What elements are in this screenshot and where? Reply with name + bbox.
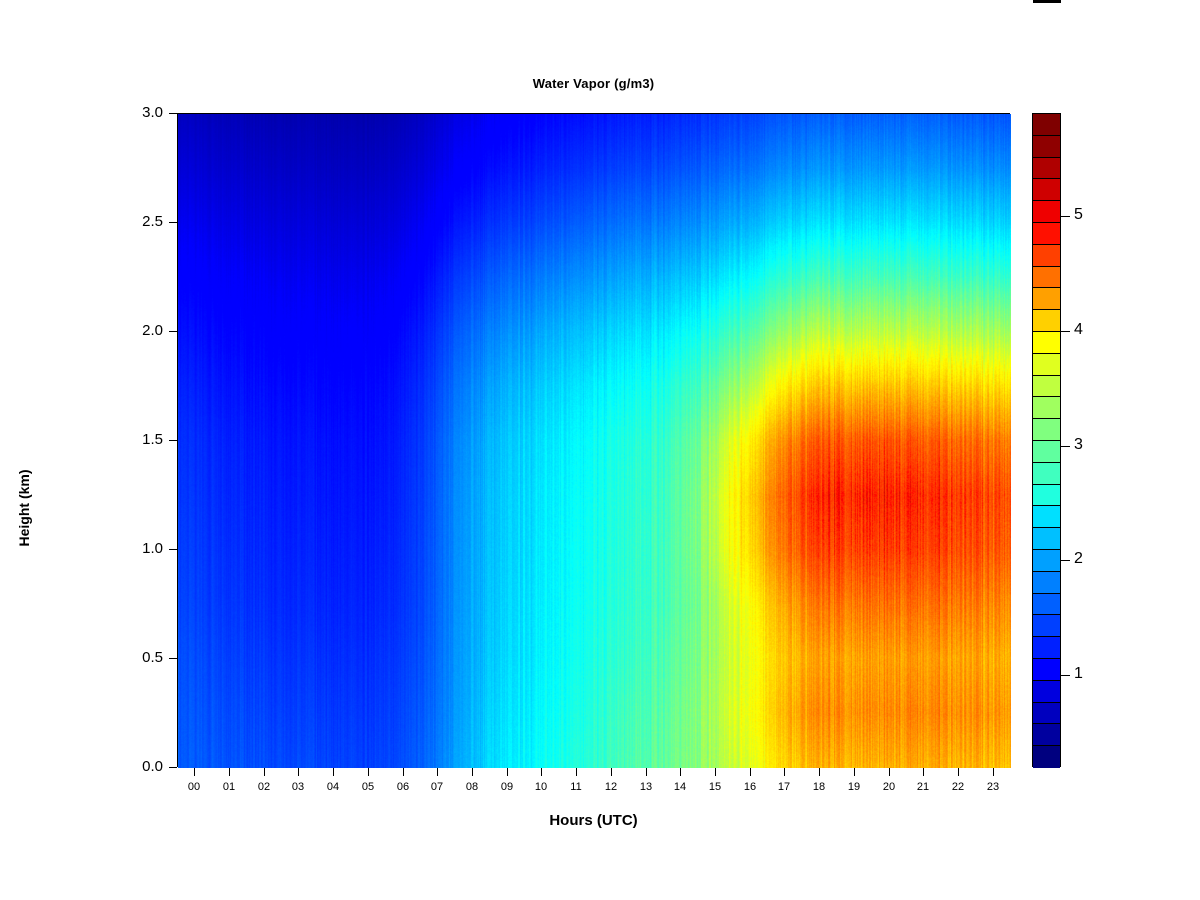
x-tick-label: 00 <box>174 781 214 793</box>
x-tick-mark <box>819 768 820 776</box>
x-tick-mark <box>750 768 751 776</box>
x-tick-mark <box>403 768 404 776</box>
colorbar-band <box>1033 615 1060 637</box>
colorbar-band <box>1033 223 1060 245</box>
colorbar-tick-label: 5 <box>1074 207 1104 223</box>
x-tick-label: 15 <box>695 781 735 793</box>
colorbar-band <box>1033 485 1060 507</box>
x-tick-mark <box>541 768 542 776</box>
y-axis-label: Height (km) <box>16 448 32 568</box>
heatmap-panel[interactable] <box>177 113 1010 767</box>
colorbar-tick-label: 1 <box>1074 666 1104 682</box>
y-tick-mark <box>169 222 177 223</box>
x-tick-label: 17 <box>764 781 804 793</box>
x-tick-mark <box>194 768 195 776</box>
x-axis-label: Hours (UTC) <box>177 812 1010 829</box>
colorbar-tick-mark <box>1061 216 1070 217</box>
x-tick-mark <box>611 768 612 776</box>
x-tick-mark <box>958 768 959 776</box>
x-tick-mark <box>507 768 508 776</box>
x-tick-mark <box>646 768 647 776</box>
figure-canvas: Water Vapor (g/m3) 0.00.51.01.52.02.53.0… <box>0 0 1200 900</box>
colorbar-band <box>1033 594 1060 616</box>
y-tick-label: 1.5 <box>103 432 163 447</box>
colorbar-band <box>1033 506 1060 528</box>
y-tick-label: 3.0 <box>103 105 163 120</box>
colorbar-band <box>1033 572 1060 594</box>
colorbar-band <box>1033 158 1060 180</box>
x-tick-mark <box>715 768 716 776</box>
x-tick-mark <box>264 768 265 776</box>
x-tick-label: 07 <box>417 781 457 793</box>
colorbar-band <box>1033 681 1060 703</box>
x-tick-label: 14 <box>660 781 700 793</box>
colorbar-band <box>1033 310 1060 332</box>
x-tick-label: 04 <box>313 781 353 793</box>
x-tick-mark <box>889 768 890 776</box>
x-tick-label: 18 <box>799 781 839 793</box>
y-tick-mark <box>169 767 177 768</box>
y-tick-label: 0.5 <box>103 650 163 665</box>
colorbar-band <box>1033 637 1060 659</box>
x-tick-mark <box>333 768 334 776</box>
colorbar-band <box>1033 463 1060 485</box>
heatmap-image[interactable] <box>178 114 1011 768</box>
y-tick-label: 1.0 <box>103 541 163 556</box>
x-tick-label: 05 <box>348 781 388 793</box>
colorbar-tick-mark <box>1061 560 1070 561</box>
colorbar-band <box>1033 136 1060 158</box>
x-tick-mark <box>680 768 681 776</box>
stray-rule-artifact <box>1033 0 1061 3</box>
x-tick-mark <box>298 768 299 776</box>
colorbar-tick-mark <box>1061 675 1070 676</box>
y-tick-mark <box>169 549 177 550</box>
x-tick-mark <box>229 768 230 776</box>
colorbar-gradient <box>1032 113 1061 767</box>
colorbar-band <box>1033 746 1060 768</box>
x-tick-mark <box>923 768 924 776</box>
colorbar-tick-mark <box>1061 331 1070 332</box>
x-tick-mark <box>437 768 438 776</box>
x-tick-label: 19 <box>834 781 874 793</box>
page-title: Water Vapor (g/m3) <box>177 76 1010 91</box>
colorbar-band <box>1033 441 1060 463</box>
x-tick-mark <box>784 768 785 776</box>
x-tick-mark <box>368 768 369 776</box>
y-tick-mark <box>169 331 177 332</box>
colorbar-band <box>1033 288 1060 310</box>
colorbar-band <box>1033 397 1060 419</box>
colorbar-tick-label: 3 <box>1074 437 1104 453</box>
y-tick-label: 2.5 <box>103 214 163 229</box>
colorbar-band <box>1033 354 1060 376</box>
x-tick-label: 22 <box>938 781 978 793</box>
x-tick-label: 03 <box>278 781 318 793</box>
colorbar-band <box>1033 419 1060 441</box>
x-tick-mark <box>993 768 994 776</box>
colorbar-band <box>1033 550 1060 572</box>
colorbar-band <box>1033 179 1060 201</box>
x-tick-mark <box>576 768 577 776</box>
colorbar-band <box>1033 245 1060 267</box>
y-tick-mark <box>169 658 177 659</box>
y-tick-label: 2.0 <box>103 323 163 338</box>
x-tick-label: 11 <box>556 781 596 793</box>
colorbar-band <box>1033 724 1060 746</box>
x-tick-label: 01 <box>209 781 249 793</box>
x-tick-mark <box>472 768 473 776</box>
colorbar-band <box>1033 659 1060 681</box>
colorbar-band <box>1033 528 1060 550</box>
x-tick-label: 21 <box>903 781 943 793</box>
colorbar-band <box>1033 703 1060 725</box>
colorbar-band <box>1033 376 1060 398</box>
x-tick-label: 08 <box>452 781 492 793</box>
colorbar[interactable] <box>1032 113 1061 767</box>
y-tick-mark <box>169 440 177 441</box>
colorbar-band <box>1033 267 1060 289</box>
colorbar-tick-label: 2 <box>1074 551 1104 567</box>
colorbar-band <box>1033 201 1060 223</box>
colorbar-tick-mark <box>1061 446 1070 447</box>
colorbar-band <box>1033 114 1060 136</box>
x-tick-mark <box>854 768 855 776</box>
x-tick-label: 12 <box>591 781 631 793</box>
y-tick-mark <box>169 113 177 114</box>
colorbar-band <box>1033 332 1060 354</box>
x-tick-label: 10 <box>521 781 561 793</box>
y-tick-label: 0.0 <box>103 759 163 774</box>
colorbar-tick-label: 4 <box>1074 322 1104 338</box>
x-tick-label: 23 <box>973 781 1013 793</box>
